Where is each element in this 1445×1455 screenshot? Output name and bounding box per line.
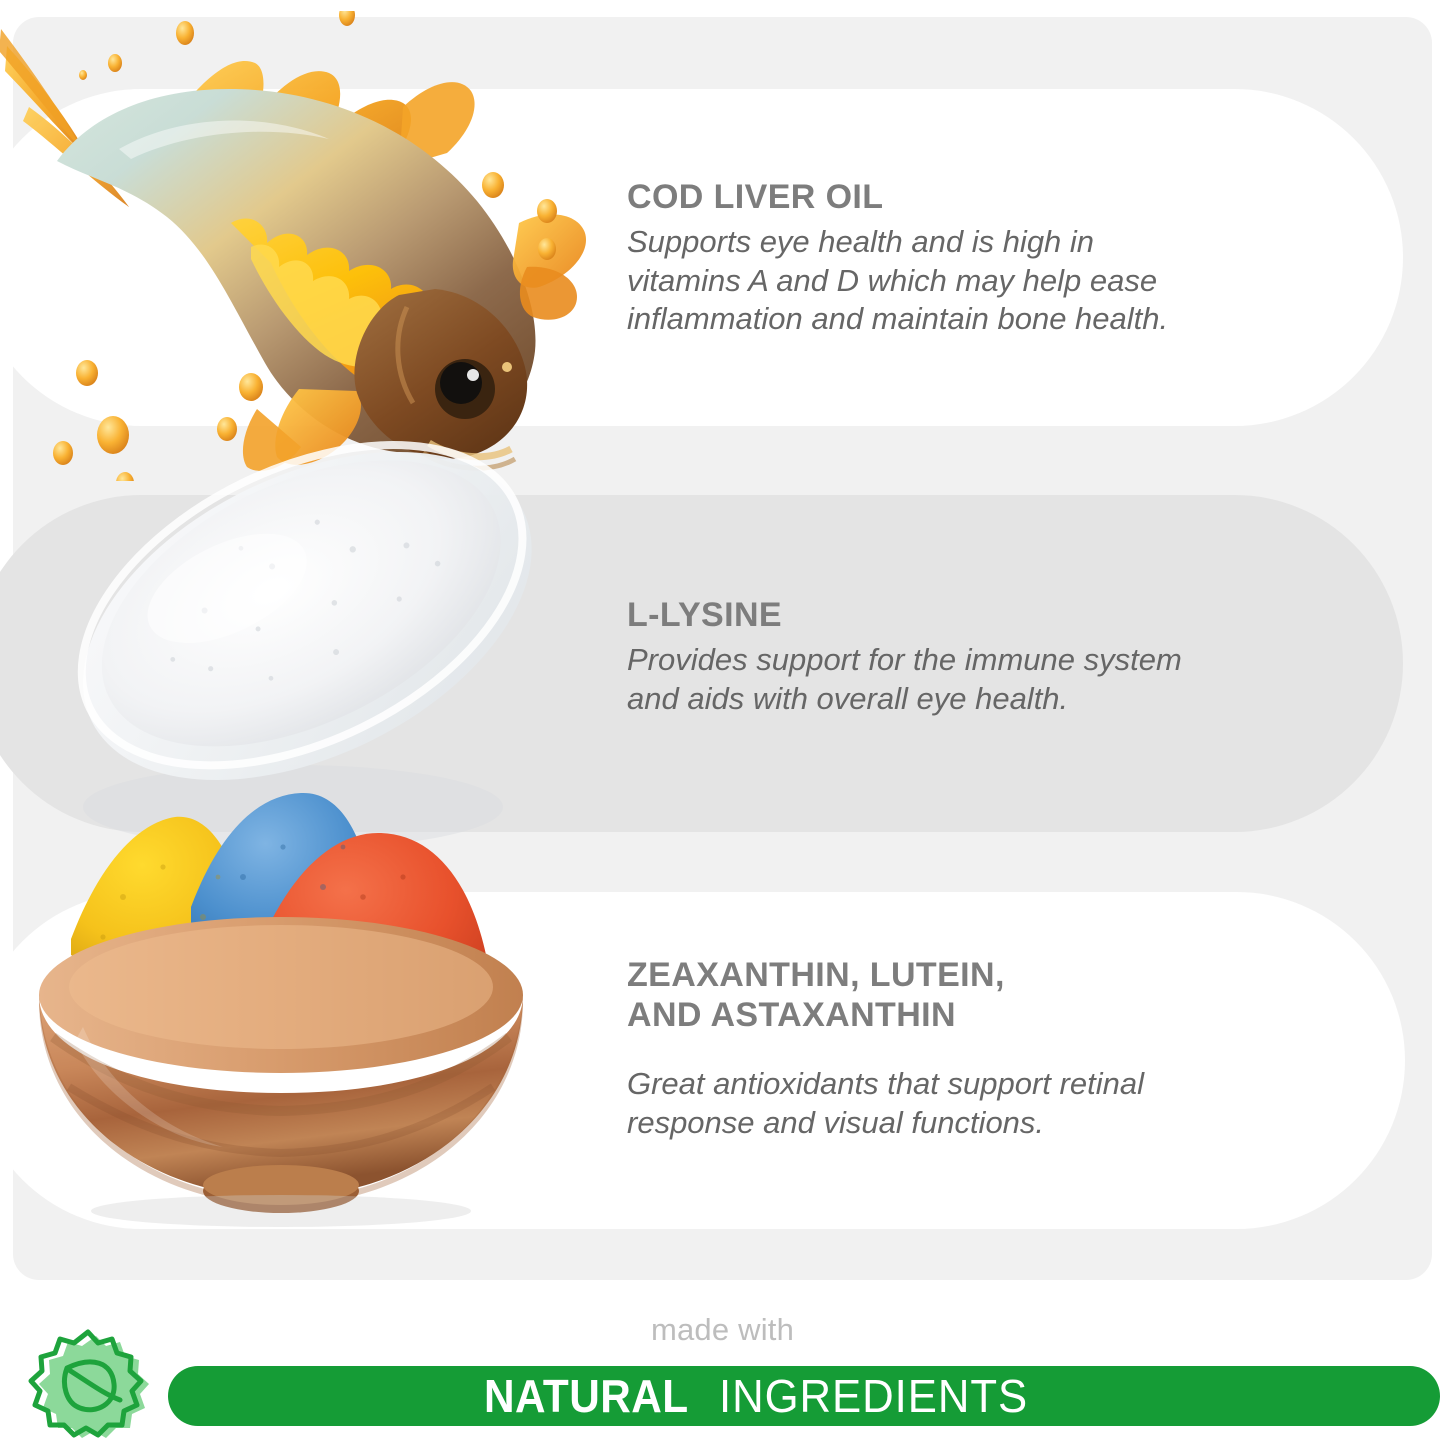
natural-leaf-badge [26, 1322, 158, 1450]
card-heading: ZEAXANTHIN, LUTEIN, AND ASTAXANTHIN [627, 955, 1144, 1035]
card-text-cod-liver-oil: COD LIVER OIL Supports eye health and is… [627, 177, 1168, 338]
card-text-l-lysine: L-LYSINE Provides support for the immune… [627, 595, 1182, 718]
card-text-zeaxanthin: ZEAXANTHIN, LUTEIN, AND ASTAXANTHIN Grea… [627, 955, 1144, 1142]
natural-ingredients-banner: NATURAL INGREDIENTS [168, 1366, 1440, 1426]
card-body: Great antioxidants that support retinal … [627, 1065, 1144, 1142]
ingredients-label: INGREDIENTS [719, 1369, 1028, 1423]
card-body: Provides support for the immune system a… [627, 641, 1182, 718]
card-body: Supports eye health and is high in vitam… [627, 223, 1168, 338]
made-with-label: made with [0, 1312, 1445, 1348]
card-heading: COD LIVER OIL [627, 177, 1168, 217]
natural-label: NATURAL [484, 1369, 689, 1423]
card-heading: L-LYSINE [627, 595, 1182, 635]
info-panel: COD LIVER OIL Supports eye health and is… [13, 17, 1432, 1280]
